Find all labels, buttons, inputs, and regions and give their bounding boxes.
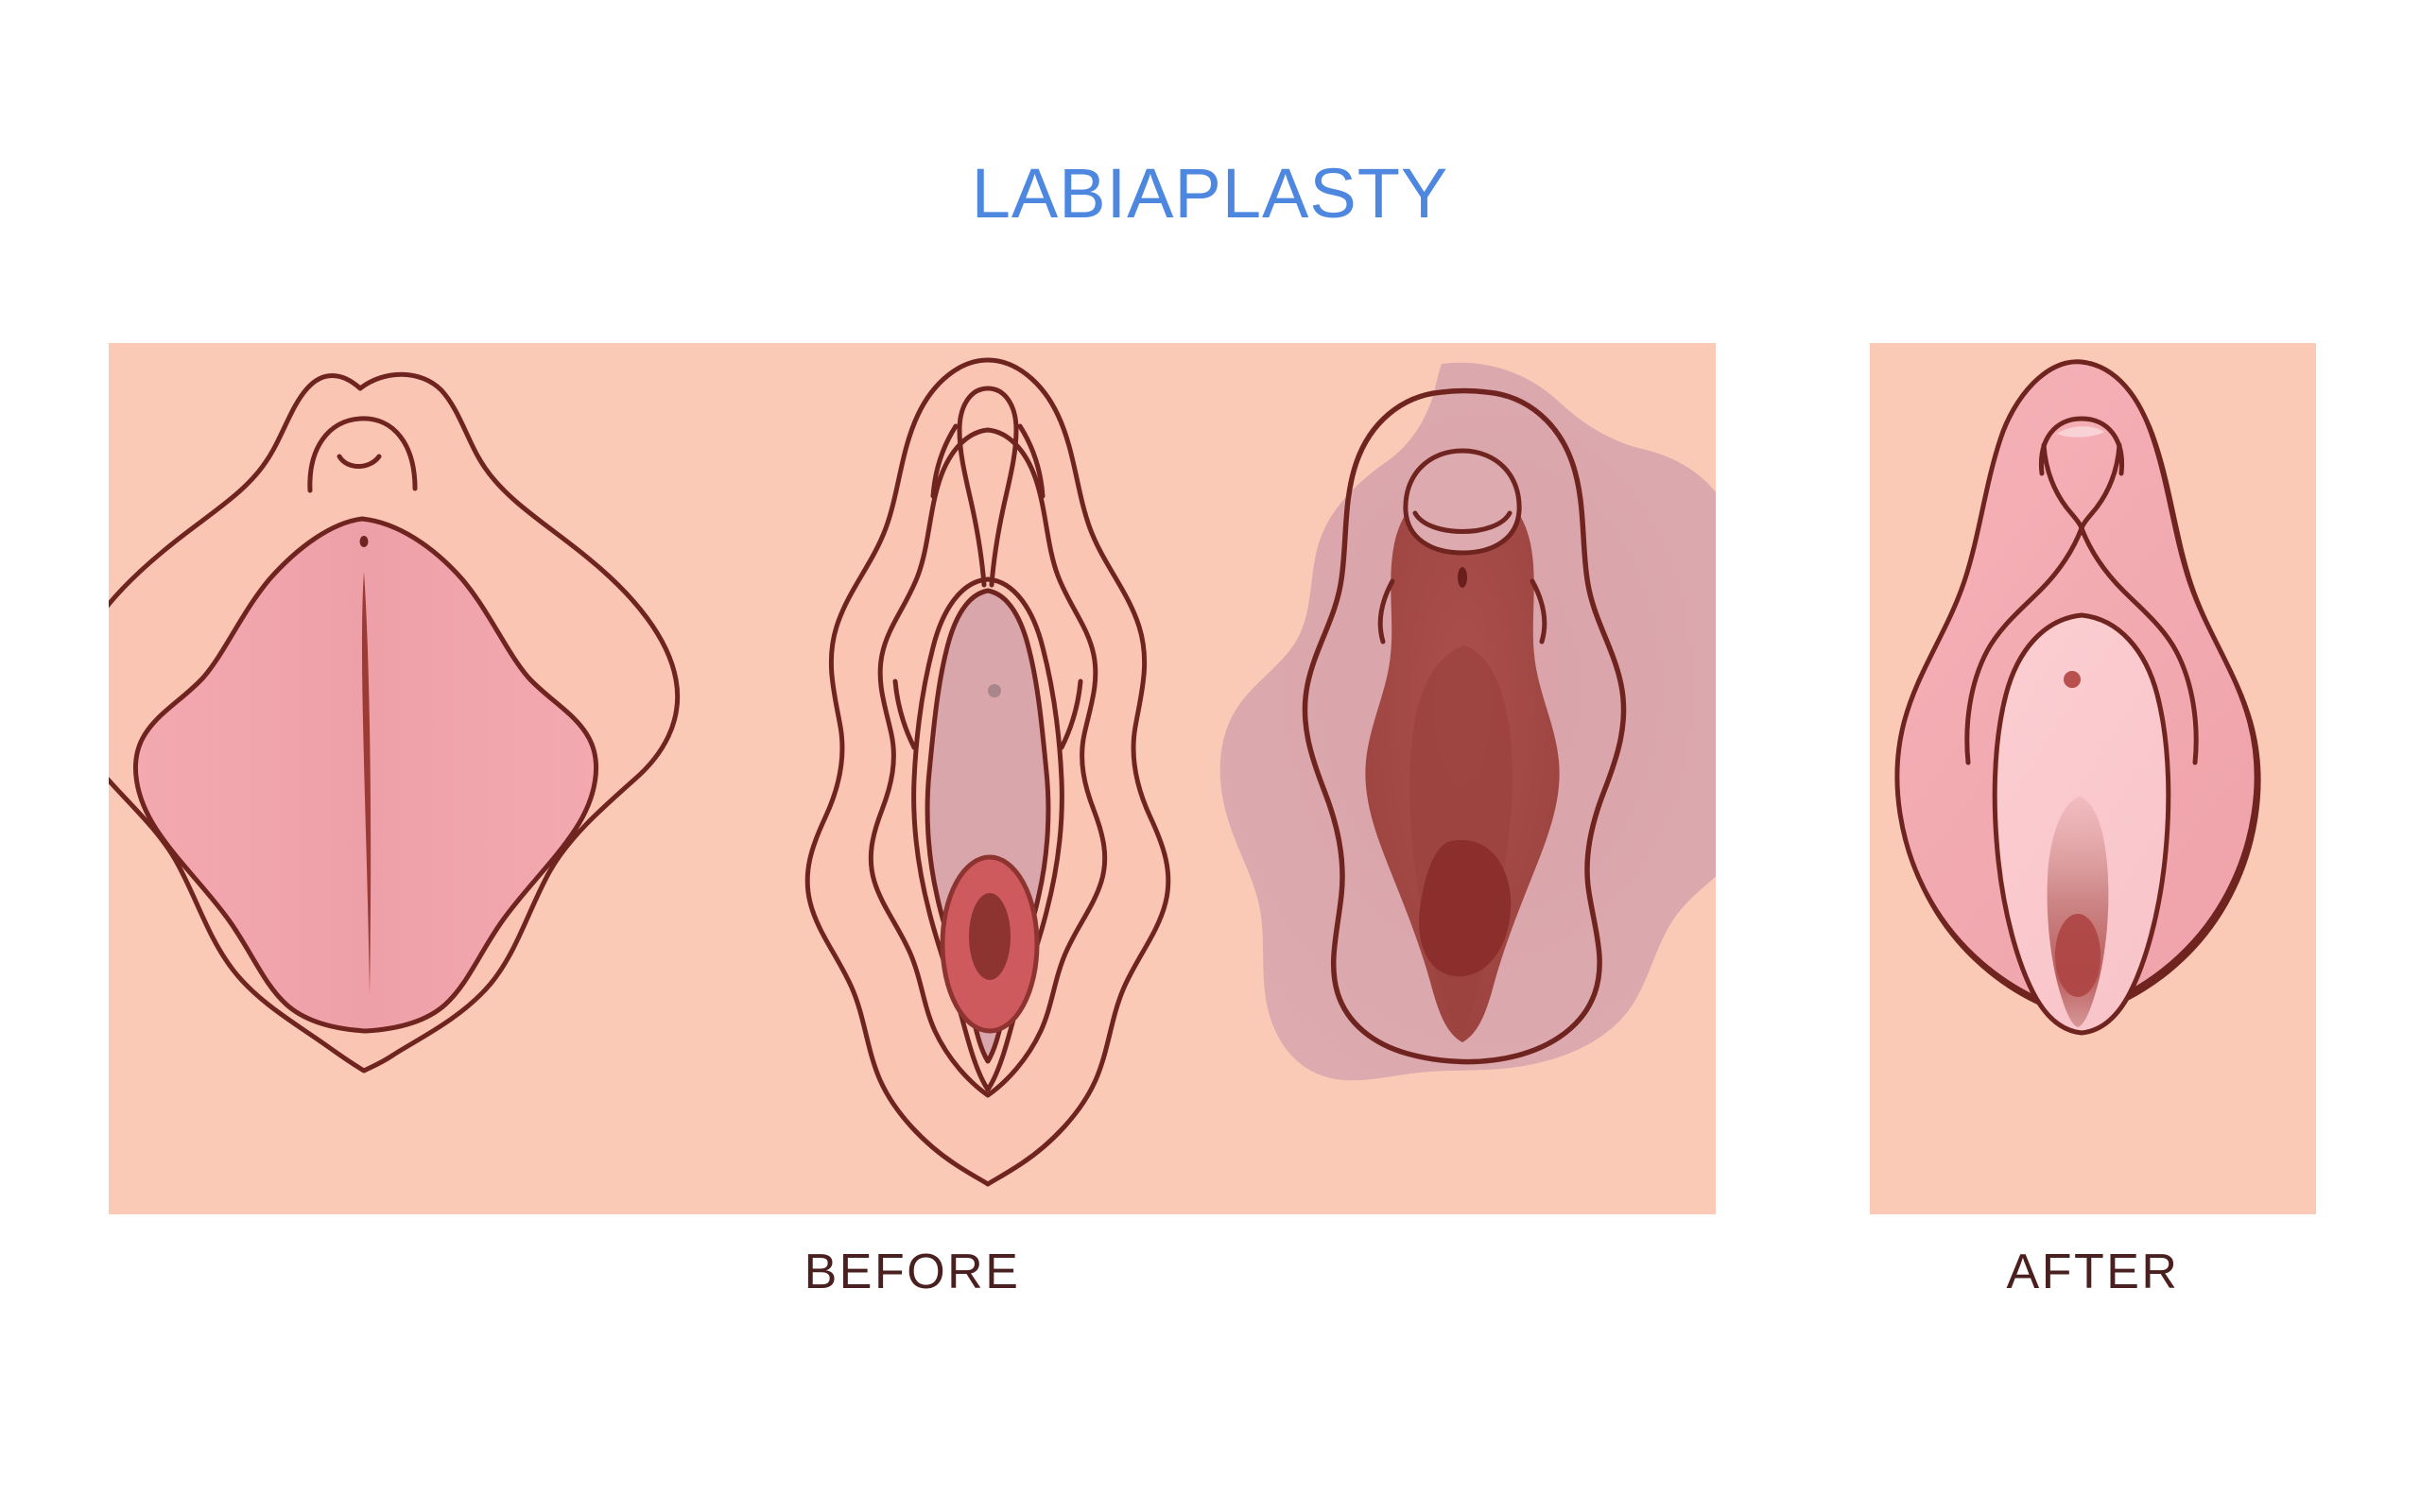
figure-swollen-inflamed-labia xyxy=(1220,363,1716,1081)
urethral-opening-dot xyxy=(1458,567,1467,588)
before-caption: BEFORE xyxy=(109,1247,1716,1297)
figure-elongated-wavy-labia xyxy=(807,360,1168,1184)
figure-hypertrophic-labia-splayed xyxy=(109,374,678,1071)
page-title: LABIAPLASTY xyxy=(0,159,2420,229)
before-figures-svg xyxy=(109,343,1716,1214)
figure-corrected-labia-smooth xyxy=(1897,362,2258,1033)
after-caption: AFTER xyxy=(1870,1247,2316,1297)
illustration-root: LABIAPLASTY xyxy=(0,0,2420,1512)
urethral-opening-dot xyxy=(2064,671,2081,688)
clitoral-hood-bubble xyxy=(1406,451,1519,553)
vaginal-opening-inner xyxy=(969,893,1011,980)
before-panel xyxy=(109,343,1716,1214)
urethral-opening-dot xyxy=(360,536,369,547)
after-panel xyxy=(1870,343,2316,1214)
vaginal-opening-core xyxy=(2055,914,2100,997)
after-figure-svg xyxy=(1870,343,2316,1214)
urethral-opening-dot xyxy=(988,684,1001,697)
